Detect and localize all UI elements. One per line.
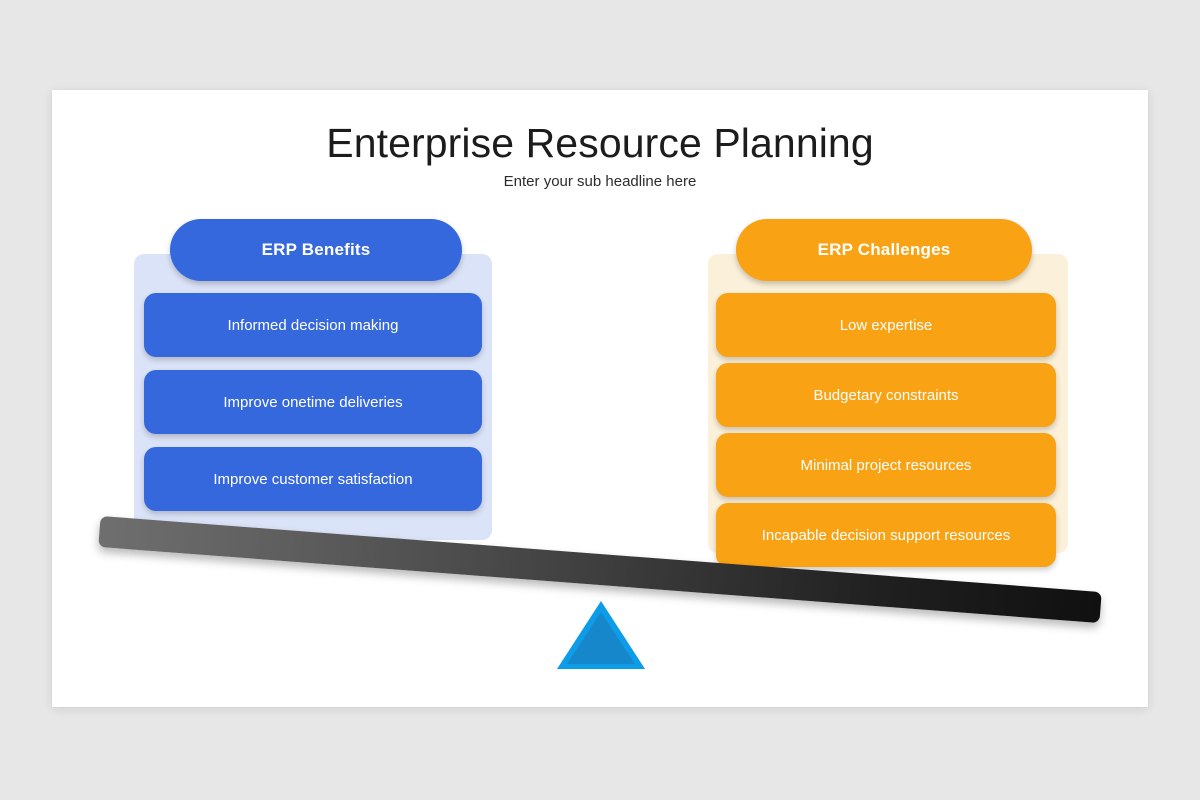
list-item[interactable]: Improve onetime deliveries bbox=[144, 370, 482, 434]
page-subtitle: Enter your sub headline here bbox=[52, 172, 1148, 192]
column-header-challenges[interactable]: ERP Challenges bbox=[736, 219, 1032, 281]
column-erp-benefits: ERP Benefits Informed decision making Im… bbox=[134, 219, 544, 644]
list-item[interactable]: Low expertise bbox=[716, 293, 1056, 357]
list-item[interactable]: Improve customer satisfaction bbox=[144, 447, 482, 511]
slide-canvas: Enterprise Resource Planning Enter your … bbox=[52, 90, 1148, 707]
list-item[interactable]: Informed decision making bbox=[144, 293, 482, 357]
list-item[interactable]: Minimal project resources bbox=[716, 433, 1056, 497]
list-item[interactable]: Incapable decision support resources bbox=[716, 503, 1056, 567]
seesaw-fulcrum-triangle-icon bbox=[557, 601, 645, 669]
column-header-benefits[interactable]: ERP Benefits bbox=[170, 219, 462, 281]
page-title: Enterprise Resource Planning bbox=[52, 117, 1148, 169]
list-item[interactable]: Budgetary constraints bbox=[716, 363, 1056, 427]
